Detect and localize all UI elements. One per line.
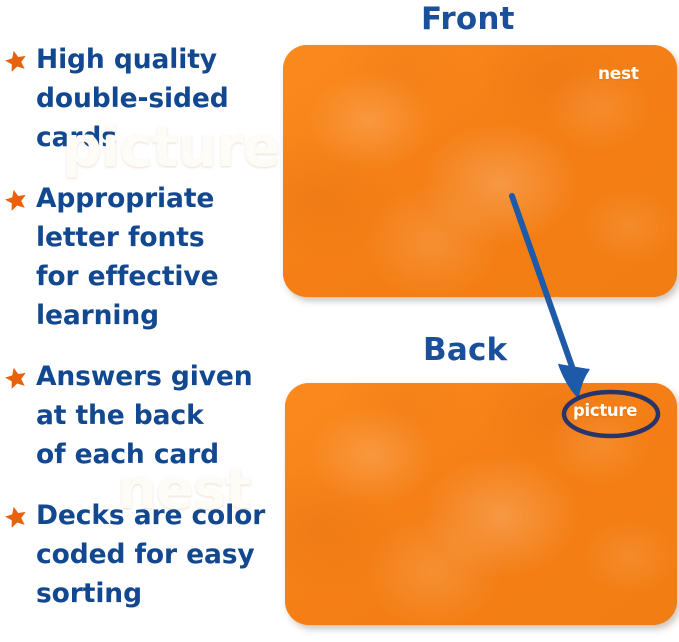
star-icon [4, 505, 28, 529]
front-card-word: picture [62, 120, 280, 176]
star-icon [4, 188, 28, 212]
list-item: Appropriate letter fonts for effective l… [0, 179, 272, 335]
front-side-heading: Front [421, 1, 515, 37]
feature-text: Appropriate letter fonts for effective l… [36, 179, 272, 335]
product-feature-graphic: High quality double-sided cards Appropri… [0, 0, 679, 642]
front-card-corner-label: nest [598, 64, 639, 84]
back-side-heading: Back [423, 332, 507, 368]
back-card-word: nest [117, 462, 251, 518]
star-icon [4, 49, 28, 73]
star-icon [4, 366, 28, 390]
back-card-corner-label: picture [573, 401, 637, 420]
